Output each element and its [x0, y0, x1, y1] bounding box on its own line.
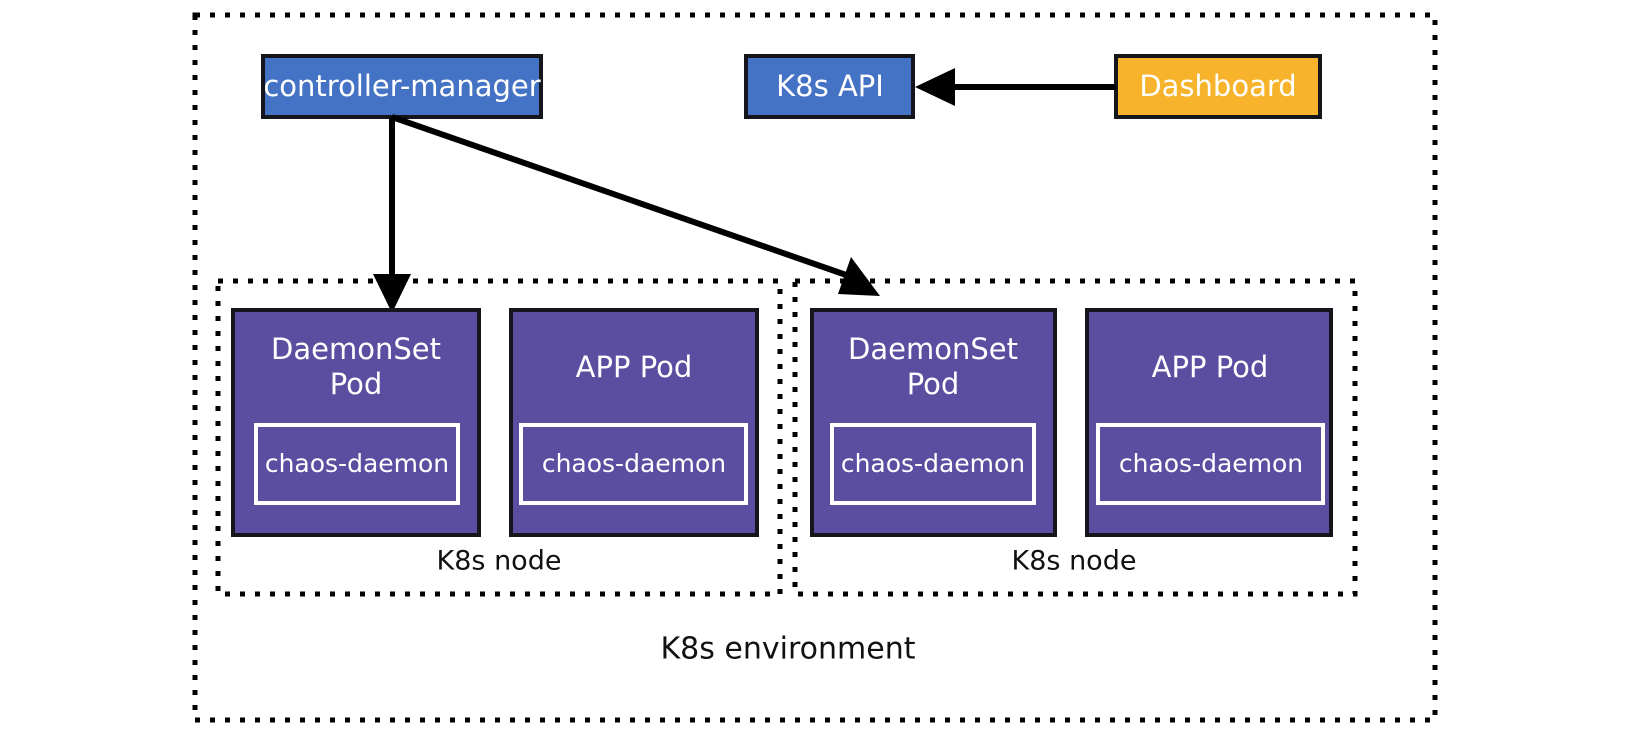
k8s-node-2-daemonset-pod[interactable]: DaemonSet Pod chaos-daemon — [812, 310, 1055, 535]
daemonset-pod-label-line1: DaemonSet — [848, 332, 1018, 366]
arrowhead-node2-daemonset — [838, 257, 880, 296]
diagram-canvas: controller-manager K8s API Dashboard — [0, 0, 1635, 739]
k8s-node-2-label: K8s node — [1012, 546, 1137, 577]
k8s-node-2: DaemonSet Pod chaos-daemon APP Pod chaos… — [795, 281, 1355, 594]
architecture-diagram: controller-manager K8s API Dashboard — [0, 0, 1635, 739]
chaos-daemon-label: chaos-daemon — [542, 449, 726, 478]
app-pod-label-line1: APP Pod — [1152, 350, 1269, 384]
k8s-node-2-app-pod[interactable]: APP Pod chaos-daemon — [1087, 310, 1331, 535]
k8s-node-1-app-pod[interactable]: APP Pod chaos-daemon — [511, 310, 757, 535]
k8s-api-label: K8s API — [776, 69, 884, 103]
daemonset-pod-label-line1: DaemonSet — [271, 332, 441, 366]
daemonset-pod-label-line2: Pod — [907, 367, 960, 401]
controller-manager-to-node1-arrow — [373, 117, 411, 313]
k8s-node-1-label: K8s node — [437, 546, 562, 577]
chaos-daemon-label: chaos-daemon — [265, 449, 449, 478]
chaos-daemon-label: chaos-daemon — [1119, 449, 1303, 478]
dashboard-label: Dashboard — [1139, 69, 1296, 103]
chaos-daemon-label: chaos-daemon — [841, 449, 1025, 478]
daemonset-pod-label-line2: Pod — [330, 367, 383, 401]
k8s-node-1-daemonset-pod[interactable]: DaemonSet Pod chaos-daemon — [233, 310, 479, 535]
controller-manager-to-node2-arrow — [392, 117, 880, 296]
app-pod-label-line1: APP Pod — [576, 350, 693, 384]
controller-manager-label: controller-manager — [263, 69, 540, 103]
arrowhead-k8s-api — [915, 68, 955, 106]
k8s-environment-label: K8s environment — [661, 632, 916, 667]
dashboard-to-k8s-api-arrow — [915, 68, 1116, 106]
arrowhead-node1-daemonset — [373, 274, 411, 313]
k8s-node-1: DaemonSet Pod chaos-daemon APP Pod chaos… — [218, 281, 780, 594]
